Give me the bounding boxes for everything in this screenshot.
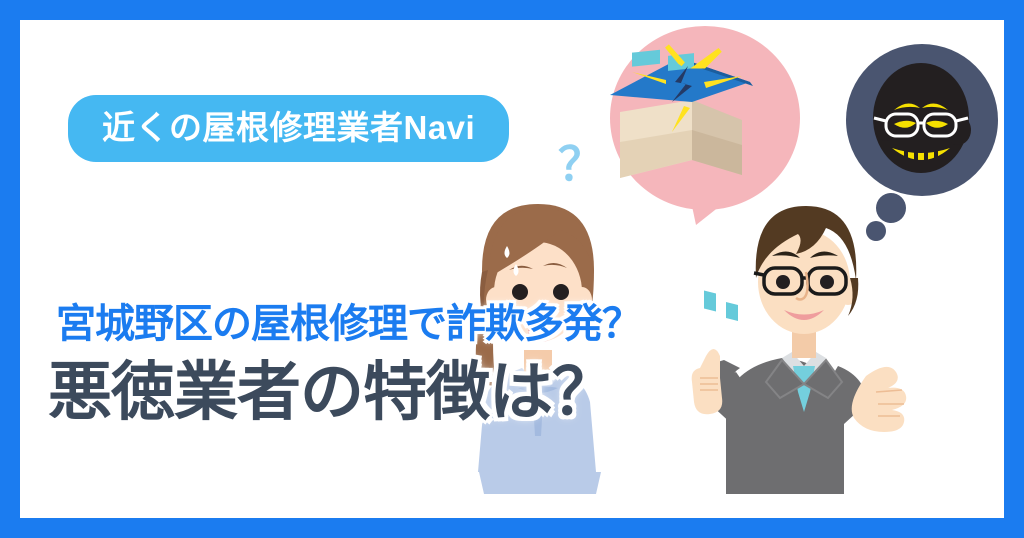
site-name-badge[interactable]: 近くの屋根修理業者Navi <box>68 95 509 162</box>
headline-line-2: 悪徳業者の特徴は？ <box>48 360 641 424</box>
question-mark-decoration: ？ <box>558 128 604 194</box>
headline-block: 宮城野区の屋根修理で詐欺多発？ 悪徳業者の特徴は？ <box>48 304 641 424</box>
pointing-hand <box>692 349 723 414</box>
shady-contractor-thought-bubble-group <box>846 44 998 241</box>
headline-line-1: 宮城野区の屋根修理で詐欺多発？ <box>48 304 641 344</box>
pointing-businessman-figure <box>692 206 907 494</box>
banner-canvas: 近くの屋根修理業者Navi ？ 宮城野区の屋根修理で詐欺多発？ 悪徳業者の特徴は… <box>0 0 1024 538</box>
open-hand <box>852 367 907 432</box>
